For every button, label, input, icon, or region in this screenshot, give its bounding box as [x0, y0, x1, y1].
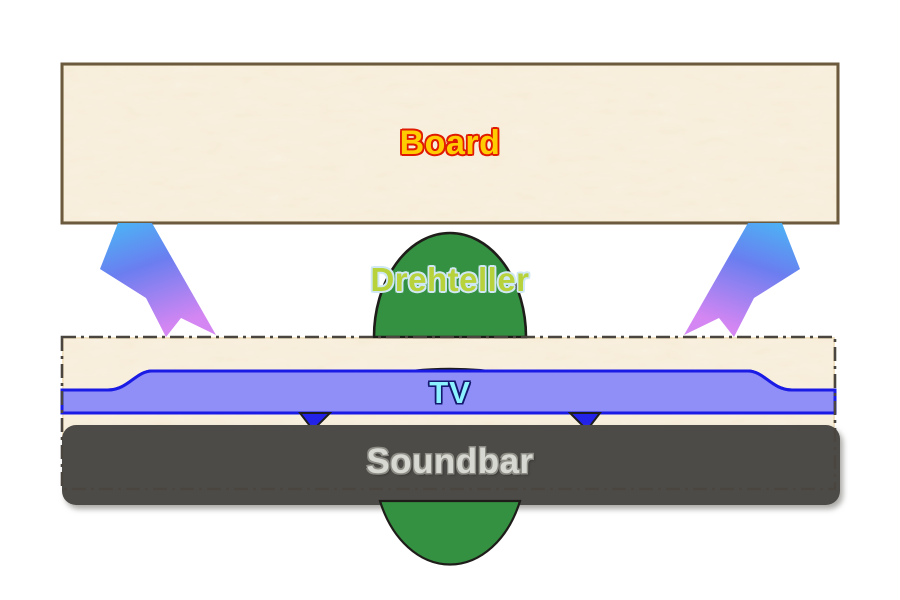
- tv-label: TV: [0, 375, 900, 411]
- drehteller-bottom-cap: [380, 501, 520, 564]
- diagram-canvas: Board Drehteller TV Soundbar: [0, 0, 900, 600]
- drehteller-label: Drehteller: [0, 261, 900, 299]
- diagram-graphics: [0, 0, 900, 600]
- board-label: Board: [0, 124, 900, 163]
- drehteller-cap-arc-bottom: [380, 501, 520, 564]
- soundbar-label: Soundbar: [0, 442, 900, 482]
